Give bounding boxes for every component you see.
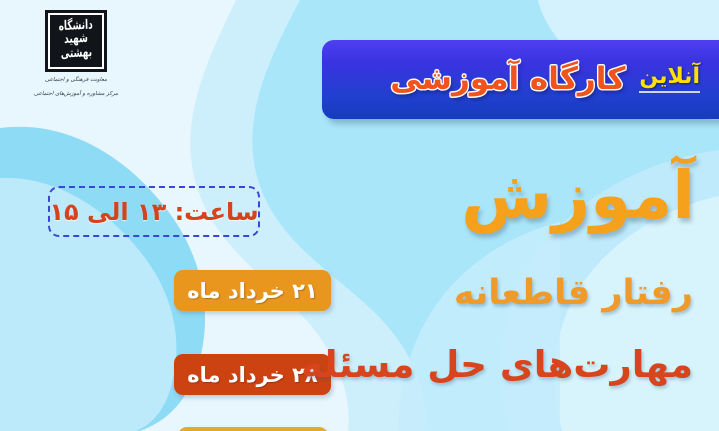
university-seal-icon: دانشگاه شهید بهشتی (45, 10, 107, 72)
time-box: ساعت: ۱۳ الی ۱۵ (48, 186, 260, 237)
time-label: ساعت: ۱۳ الی ۱۵ (49, 198, 258, 226)
banner-subtitle-online: آنلاین (639, 66, 700, 93)
date-badge-partial (178, 427, 328, 431)
date-badge: ۲۱ خرداد ماه (174, 270, 331, 311)
header-banner: آنلاین کارگاه آموزشی (322, 40, 719, 119)
main-title: آموزش (461, 163, 695, 229)
topic-line: مهارت‌های حل مسئله (301, 346, 693, 383)
seal-calligraphy-text: دانشگاه شهید بهشتی (58, 20, 93, 63)
seal-inner-frame: دانشگاه شهید بهشتی (48, 13, 104, 69)
logo-subtitle-line-1: معاونت فرهنگی و اجتماعی (20, 76, 132, 86)
date-badge-label: ۲۸ خرداد ماه (187, 363, 318, 387)
poster-canvas: دانشگاه شهید بهشتی معاونت فرهنگی و اجتما… (0, 0, 719, 431)
university-logo: دانشگاه شهید بهشتی معاونت فرهنگی و اجتما… (20, 10, 132, 115)
topic-line: رفتار قاطعانه (454, 276, 693, 311)
date-badge-label: ۲۱ خرداد ماه (187, 279, 318, 303)
banner-title: کارگاه آموزشی (390, 64, 625, 95)
logo-subtitle-line-2: مرکز مشاوره و آموزش‌های اجتماعی (20, 90, 132, 100)
